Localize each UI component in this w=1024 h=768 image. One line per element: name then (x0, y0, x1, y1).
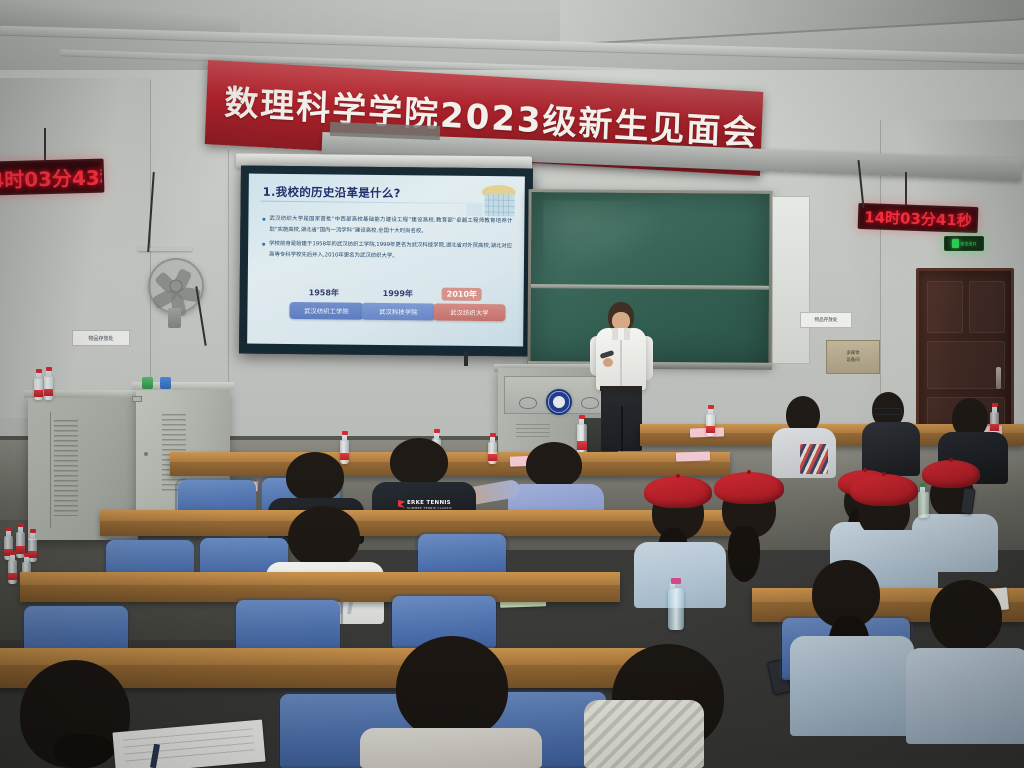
bottle-cap (10, 551, 16, 555)
eyeglasses-icon (872, 408, 902, 415)
crate-bottle-3 (28, 538, 37, 562)
running-person-icon (952, 239, 959, 248)
timeline-box-1: 武汉纺织工学院 (289, 302, 363, 320)
emergency-exit-sign: 安全出口 (944, 236, 984, 251)
water-bottle-cabinet-1 (34, 378, 43, 400)
water-bottle-r1-b (990, 412, 999, 434)
bottle-label (340, 453, 349, 460)
red-beret (922, 460, 980, 488)
bottle-cap (708, 405, 714, 409)
bottle-cap (30, 529, 36, 533)
red-beret (850, 474, 918, 506)
classroom-photo-scene: 数理科学学院2023级新生见面会 14时03分43秒 14时03分41秒 1.我… (0, 0, 1024, 768)
student-torso (584, 700, 704, 768)
green-cup (142, 377, 153, 389)
desk-row-2 (170, 452, 730, 476)
timeline-box-3: 武汉纺织大学 (433, 304, 505, 322)
presenter-shirt-placket (620, 336, 622, 388)
shirt-brand-text: ERKE TENNIS SUMMER TENNIS CLASSIC (407, 500, 452, 510)
sign-equipment-room-line1: 多媒体 (846, 350, 859, 357)
door-panel-top-left (927, 281, 963, 333)
chair-frame (233, 598, 343, 650)
water-bottle-r2-a (340, 440, 349, 464)
water-bottle-r1-a (706, 414, 715, 436)
exit-sign-text: 安全出口 (961, 241, 977, 247)
door-panel-mid (927, 341, 1005, 389)
cabinet-door-seam-left (50, 412, 51, 528)
podium-vent-slats (516, 424, 550, 440)
sign-storage-left: 物品存放处 (72, 330, 130, 346)
red-beret (714, 472, 784, 504)
bottle-cap (36, 369, 42, 373)
fan-bracket (138, 248, 192, 251)
bottle-cap (46, 367, 52, 371)
presenter-leg-gap (621, 406, 623, 451)
student-head (930, 580, 1002, 652)
cabinet-lock-right[interactable] (144, 452, 148, 456)
presenter-belt (600, 386, 642, 391)
history-timeline: 1958年 1999年 2010年 武汉纺织工学院 武汉科技学院 武汉纺织大学 (289, 286, 504, 332)
crate-bottle-4 (8, 560, 17, 584)
led-clock-right: 14时03分41秒 (858, 203, 979, 233)
water-bottle-r4 (668, 588, 684, 630)
desk-front-panel (170, 462, 730, 476)
bottle-cap (579, 415, 585, 419)
student-torso (790, 636, 914, 736)
door-panel-top-right (969, 281, 1005, 333)
led-clock-left: 14时03分43秒 (0, 159, 104, 196)
bottle-label (8, 573, 17, 580)
student-head (396, 636, 508, 740)
led-clock-right-text: 14时03分41秒 (864, 206, 972, 231)
bottle-cap (6, 527, 12, 531)
bottle-label (488, 454, 497, 461)
bottle-cap (992, 403, 998, 407)
student-torso (360, 728, 542, 768)
student-torso (906, 648, 1024, 744)
notebook-ruled-lines (123, 728, 255, 765)
bottle-cap (490, 433, 496, 437)
bottle-label (706, 426, 715, 433)
student-head (286, 452, 344, 502)
screen-pull-tab (464, 352, 468, 366)
podium-shell-ornament-left (519, 397, 537, 409)
cabinet-latch[interactable] (132, 396, 142, 402)
fan-mount-stem (168, 308, 181, 328)
chair-r4-2[interactable] (236, 600, 340, 650)
phone-screen (961, 488, 974, 513)
timeline-box-2: 武汉科技学院 (361, 303, 435, 321)
bottle-cap (342, 431, 348, 435)
door-handle[interactable] (996, 367, 1001, 389)
graphic-tee-print (800, 444, 828, 474)
water-bottle-r2-green (918, 492, 929, 518)
cabinet-vent-left (54, 420, 78, 516)
red-beret (644, 476, 712, 508)
desk-surface (100, 510, 740, 521)
water-bottle-r2-c (488, 442, 497, 464)
student-head (526, 442, 582, 488)
ponytail (54, 734, 112, 768)
timeline-year-1: 1958年 (304, 286, 344, 299)
bottle-label (34, 390, 43, 397)
bottle-label (990, 424, 999, 431)
led-wire-right (905, 172, 907, 208)
bottle-label (44, 389, 53, 396)
presenter-collar (612, 328, 630, 340)
sign-storage-right: 物品存放处 (800, 312, 852, 328)
student-head (390, 438, 448, 486)
university-emblem (546, 389, 572, 415)
student-torso (862, 422, 920, 476)
open-notebook-foreground (112, 720, 265, 768)
led-clock-left-text: 14时03分43秒 (0, 161, 104, 194)
blackboard-glare (543, 200, 663, 271)
bottle-cap (920, 483, 926, 487)
led-wire-left (44, 128, 46, 164)
slide-body: 武汉纺织大学是国家首批“中西部高校基础能力建设工程”建设高校,教育部“卓越工程师… (262, 214, 513, 267)
water-bottle-cabinet-2 (44, 376, 53, 400)
timeline-year-2: 1999年 (378, 287, 418, 300)
wall-panel-left (0, 78, 150, 418)
handout-paper-r2-c (676, 451, 710, 461)
side-whiteboard (772, 196, 810, 364)
bottle-cap (434, 429, 440, 433)
desk-surface (0, 648, 670, 665)
desk-surface (20, 572, 620, 585)
slide-bullet-2: 学校前身是始建于1958年的武汉纺织工学院,1999年更名为武汉科技学院,湖北省… (262, 239, 512, 263)
bottle-cap (18, 523, 24, 527)
bottle-label (577, 441, 587, 450)
presentation-slide: 1.我校的历史沿革是什么? 武汉纺织大学是国家首批“中西部高校基础能力建设工程”… (247, 174, 525, 347)
blue-cup (160, 377, 171, 389)
projection-screen: 1.我校的历史沿革是什么? 武汉纺织大学是国家首批“中西部高校基础能力建设工程”… (239, 165, 533, 356)
water-bottle-podium (577, 424, 587, 454)
desk-surface (170, 452, 730, 462)
sign-equipment-room: 多媒体 设备间 (826, 340, 880, 374)
sign-equipment-room-line2: 设备间 (846, 357, 859, 364)
bottle-cap (24, 553, 30, 557)
slide-title: 1.我校的历史沿革是什么? (263, 184, 401, 201)
student-head (288, 506, 360, 568)
blackboard-slide-rail (531, 284, 769, 290)
fan-hub (170, 280, 183, 293)
bottle-cap (671, 578, 681, 584)
podium-shell-ornament-right (581, 397, 599, 409)
timeline-year-3: 2010年 (442, 288, 482, 301)
slide-bullet-1: 武汉纺织大学是国家首批“中西部高校基础能力建设工程”建设高校,教育部“卓越工程师… (262, 214, 512, 238)
presenter-hand (603, 358, 613, 367)
